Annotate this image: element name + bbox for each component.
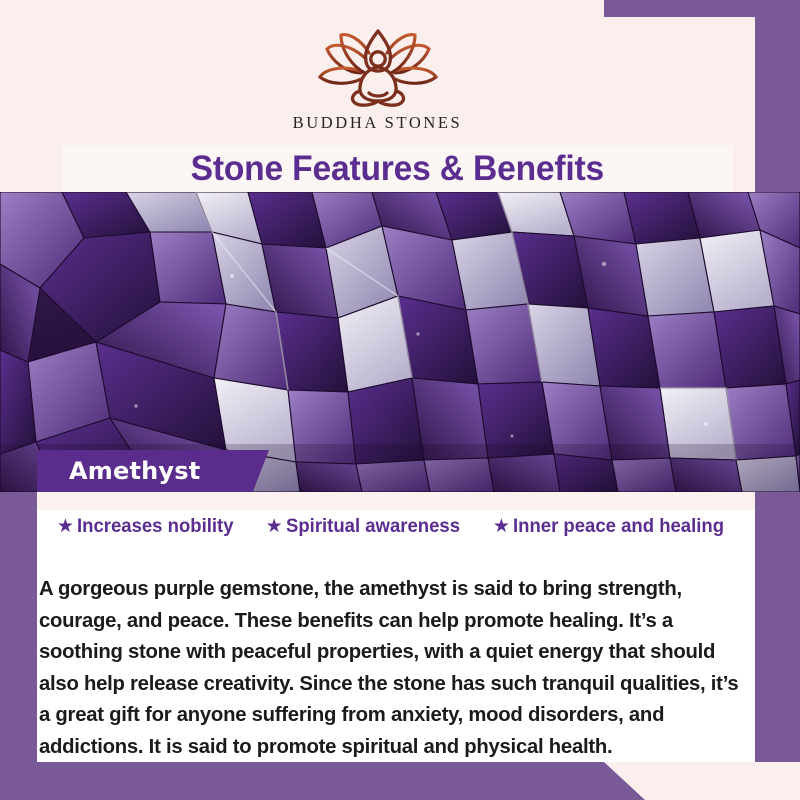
title-band: Stone Features & Benefits	[62, 145, 733, 193]
frame-accent-left	[0, 492, 37, 800]
benefits-list: ★ Increases nobility ★ Spiritual awarene…	[37, 515, 755, 538]
content-panel: ★ Increases nobility ★ Spiritual awarene…	[37, 492, 755, 762]
star-icon: ★	[57, 517, 74, 536]
star-icon: ★	[493, 517, 510, 536]
lotus-meditation-figure-icon	[303, 23, 453, 111]
amethyst-photo	[0, 192, 800, 492]
benefit-label: Spiritual awareness	[286, 515, 460, 538]
stone-description: A gorgeous purple gemstone, the amethyst…	[39, 574, 747, 763]
header: BUDDHA STONES Stone Features & Benefits	[0, 17, 755, 192]
brand-logo: BUDDHA STONES	[0, 23, 755, 133]
benefit-item: ★ Spiritual awareness	[266, 515, 469, 538]
stone-name-text: Amethyst	[69, 457, 200, 485]
benefit-item: ★ Inner peace and healing	[493, 515, 735, 538]
frame-accent-bottom	[0, 762, 645, 800]
amethyst-crystal-illustration	[0, 192, 800, 492]
star-icon: ★	[266, 517, 283, 536]
brand-name: BUDDHA STONES	[293, 113, 463, 133]
frame-accent-top-right	[604, 0, 800, 17]
content-top-strip	[37, 492, 755, 510]
stone-features-infographic: BUDDHA STONES Stone Features & Benefits	[0, 0, 800, 800]
page-title: Stone Features & Benefits	[191, 149, 604, 189]
benefit-label: Increases nobility	[77, 515, 233, 538]
benefit-label: Inner peace and healing	[513, 515, 724, 538]
benefit-item: ★ Increases nobility	[57, 515, 242, 538]
stone-name-label: Amethyst	[37, 450, 269, 492]
